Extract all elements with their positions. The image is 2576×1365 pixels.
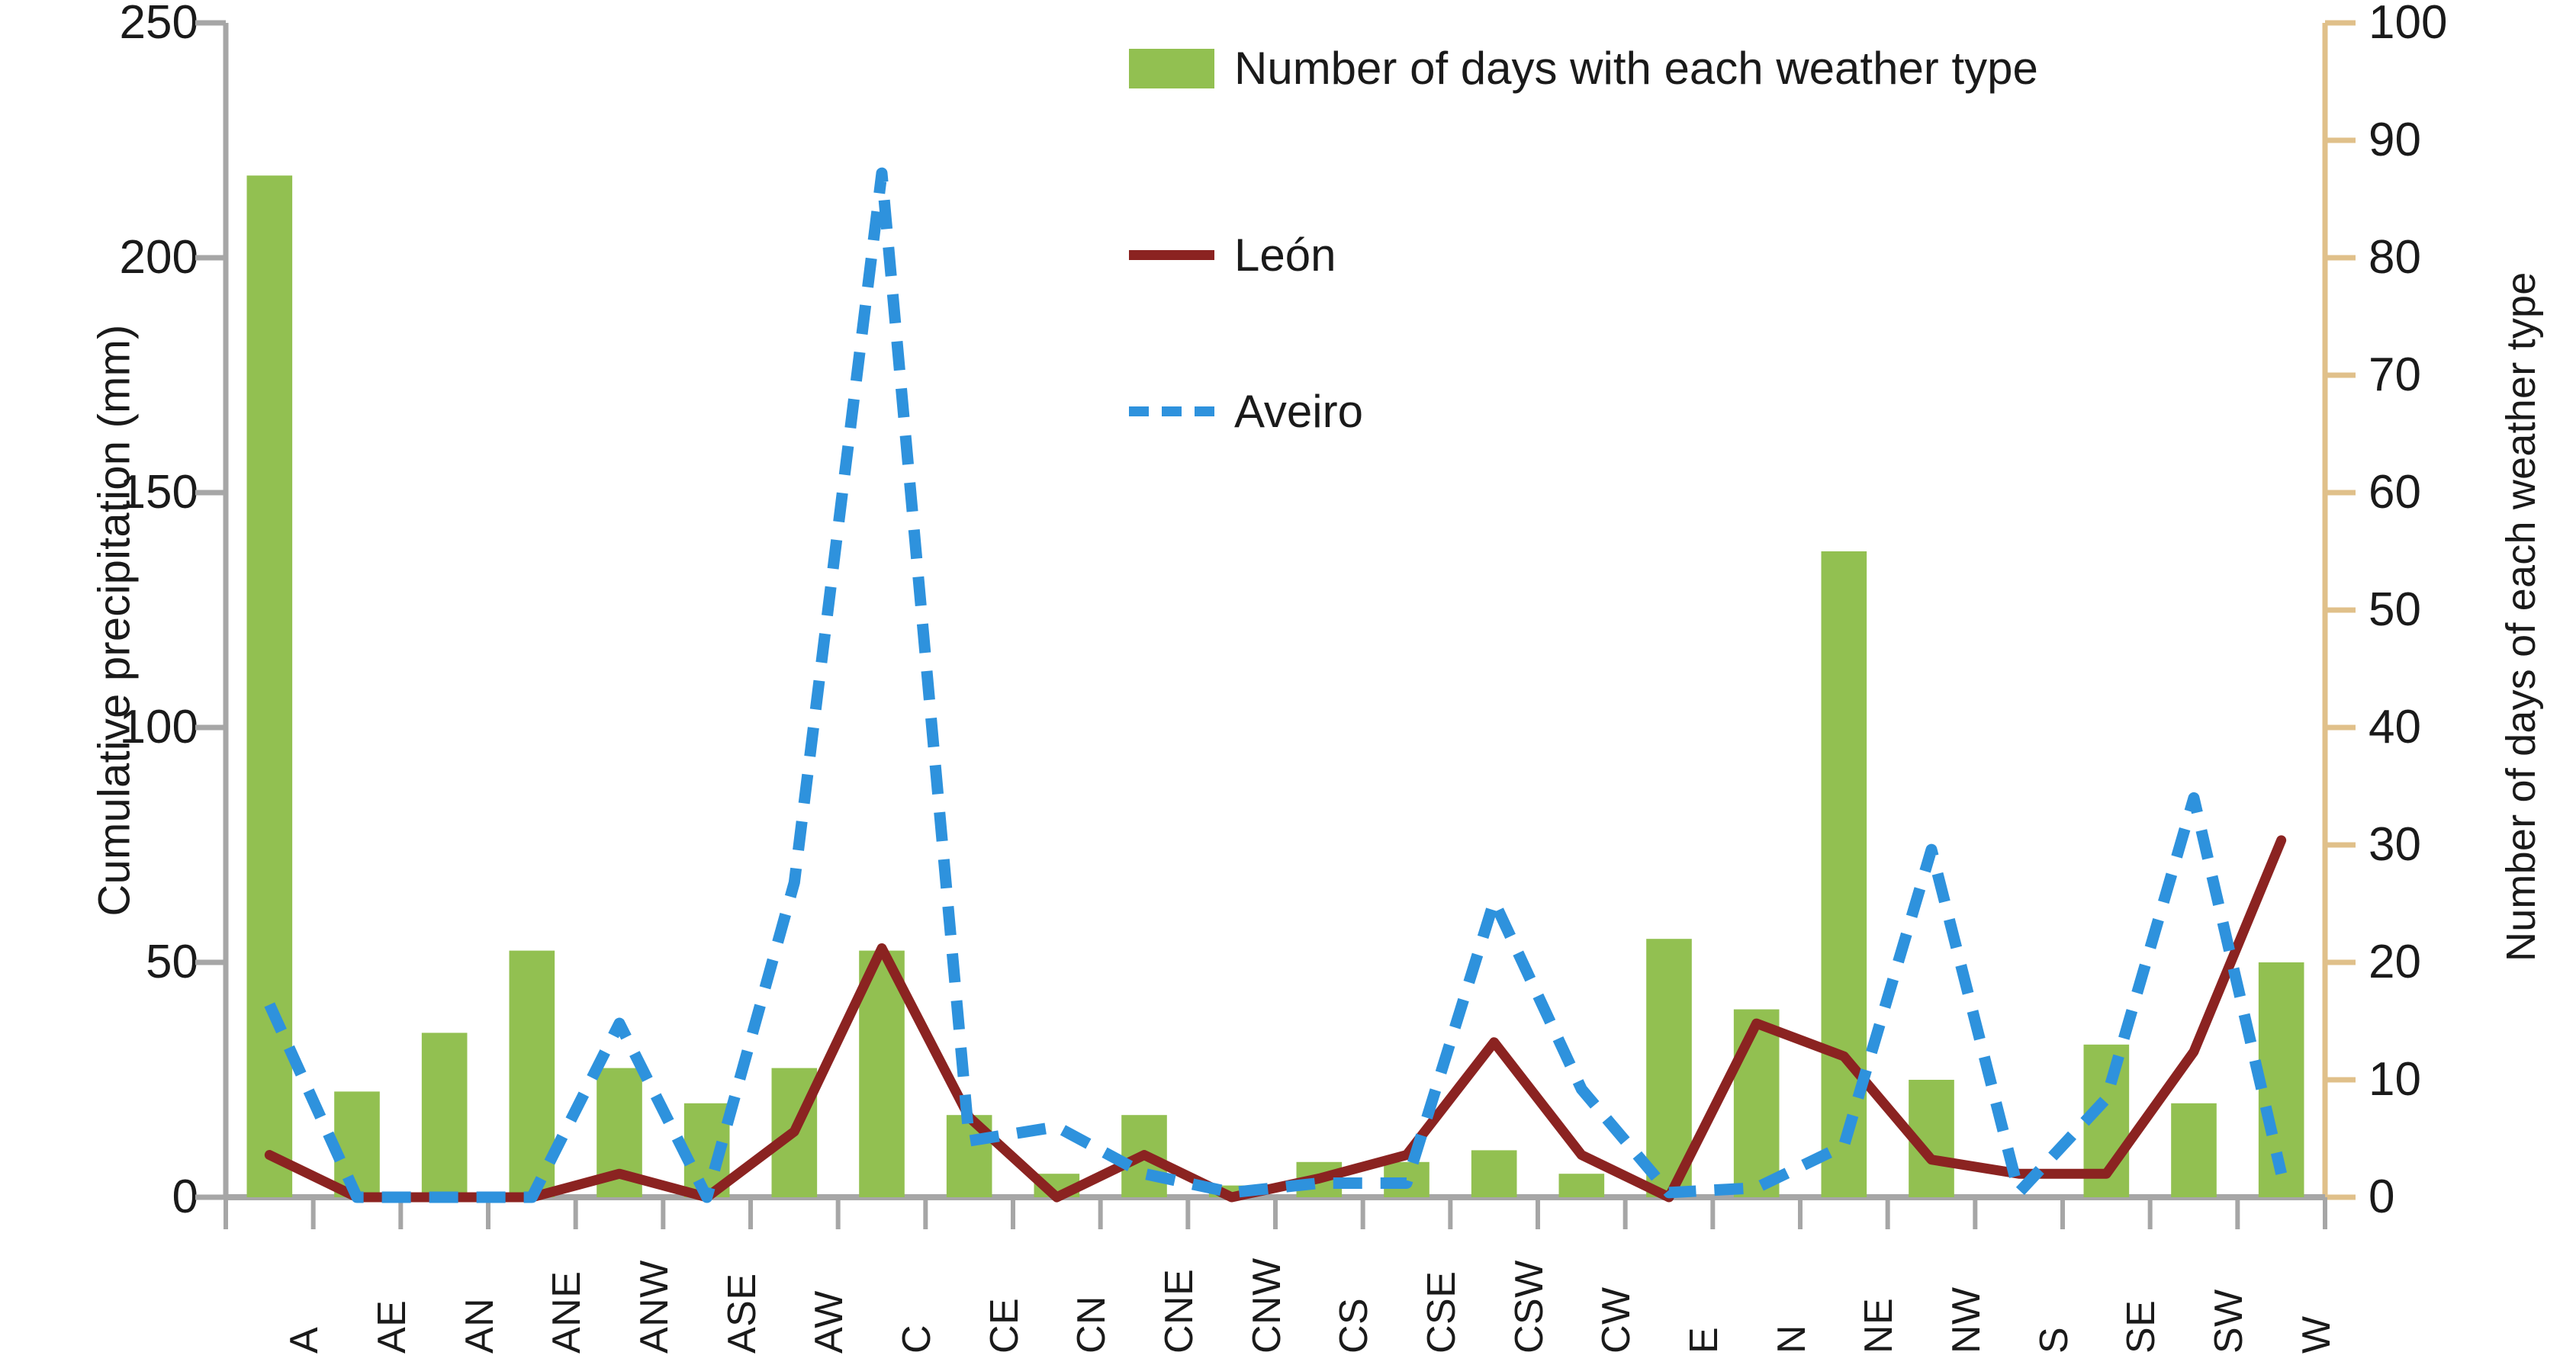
plot-area <box>0 0 2576 1365</box>
bar-CSW <box>1471 1150 1517 1197</box>
solid-line-swatch-icon <box>1129 250 1214 260</box>
chart-root: Cumulative precipitation (mm) Number of … <box>0 0 2576 1365</box>
bar-N <box>1734 1010 1780 1197</box>
line-series-aveiro <box>269 173 2281 1197</box>
bar-A <box>247 175 293 1197</box>
dashed-line-swatch-icon <box>1129 406 1214 416</box>
legend-label-leon: León <box>1234 229 1336 281</box>
bar-CW <box>1559 1174 1605 1197</box>
legend-item-leon[interactable]: León <box>1129 229 1336 281</box>
bar-AE <box>334 1091 380 1197</box>
legend-label-days: Number of days with each weather type <box>1234 42 2038 95</box>
bar-SW <box>2171 1103 2217 1197</box>
legend-item-days[interactable]: Number of days with each weather type <box>1129 42 2038 95</box>
legend-item-aveiro[interactable]: Aveiro <box>1129 385 1363 438</box>
bar-AN <box>422 1033 468 1197</box>
bar-swatch-icon <box>1129 49 1214 88</box>
bar-NE <box>1822 551 1867 1197</box>
legend-label-aveiro: Aveiro <box>1234 385 1363 438</box>
